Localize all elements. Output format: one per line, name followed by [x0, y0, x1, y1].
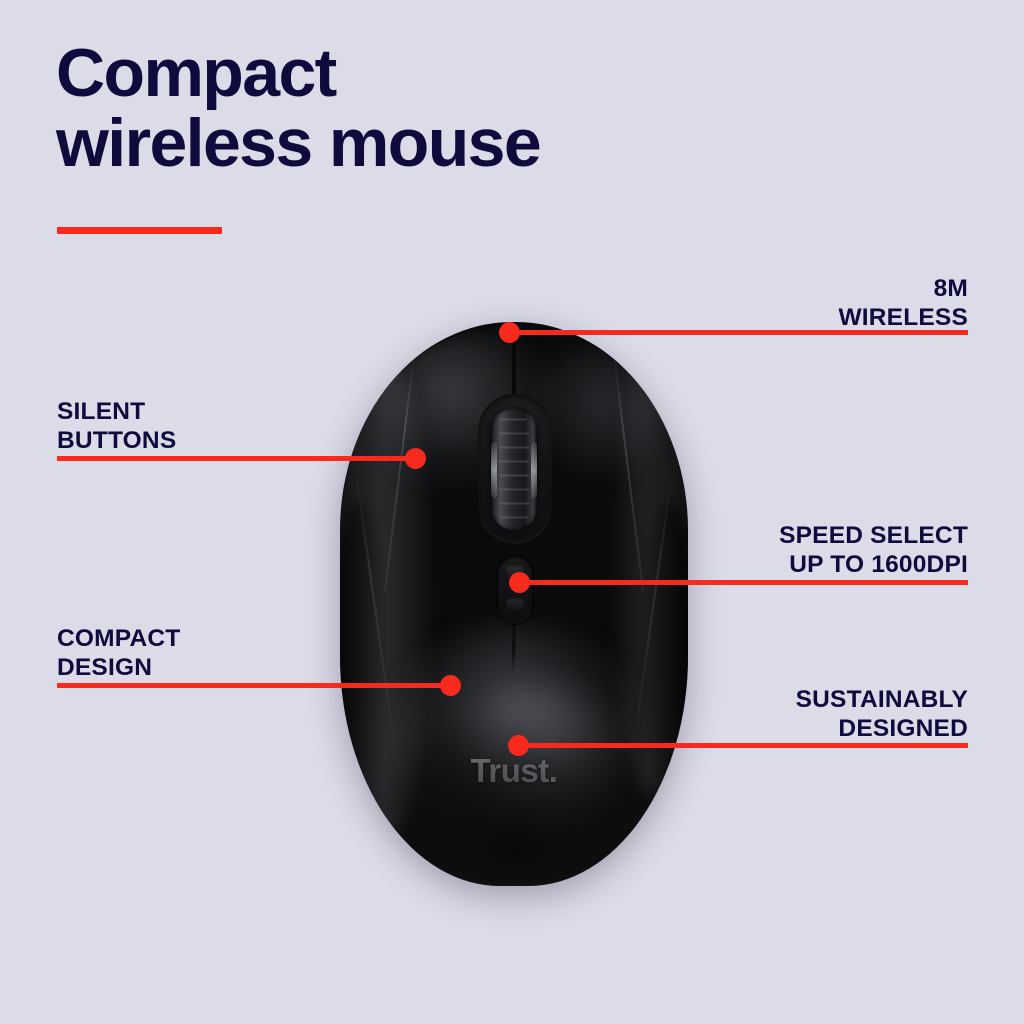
product-infographic: Compact wireless mouse	[0, 0, 1024, 1024]
callout-wireless-range-line-1: 8M	[838, 275, 968, 304]
page-title-line-1: Compact	[56, 38, 776, 108]
callout-leader-line-sustainably-designed	[521, 743, 968, 748]
callout-compact-design-line-2: DESIGN	[57, 654, 180, 683]
callout-dot-silent-buttons	[405, 448, 426, 469]
title-underline-rule	[57, 227, 222, 234]
callout-dot-compact-design	[440, 675, 461, 696]
scroll-wheel	[490, 408, 538, 530]
scroll-wheel-ring-right	[531, 442, 537, 498]
callout-speed-select-line-1: SPEED SELECT	[779, 522, 968, 551]
callout-dot-wireless-range	[499, 322, 520, 343]
callout-label-wireless-range: 8M WIRELESS	[838, 275, 968, 332]
callout-sustainably-designed-line-2: DESIGNED	[796, 715, 968, 744]
callout-leader-line-speed-select	[522, 580, 968, 585]
callout-label-sustainably-designed: SUSTAINABLY DESIGNED	[796, 686, 968, 743]
callout-dot-speed-select	[509, 572, 530, 593]
callout-compact-design-line-1: COMPACT	[57, 625, 180, 654]
callout-label-compact-design: COMPACT DESIGN	[57, 625, 180, 682]
callout-leader-line-compact-design	[57, 683, 450, 688]
callout-speed-select-line-2: UP TO 1600DPI	[779, 551, 968, 580]
dpi-button-groove-bottom	[506, 598, 524, 611]
mouse-split-line-tail	[512, 640, 515, 674]
callout-dot-sustainably-designed	[508, 735, 529, 756]
scroll-wheel-texture	[499, 412, 529, 526]
callout-leader-line-wireless-range	[512, 330, 968, 335]
page-title-line-2: wireless mouse	[56, 108, 776, 178]
product-image-wireless-mouse: Trust.	[340, 322, 688, 886]
page-title: Compact wireless mouse	[56, 38, 776, 178]
callout-label-speed-select: SPEED SELECT UP TO 1600DPI	[779, 522, 968, 579]
scroll-wheel-ring-left	[491, 442, 497, 498]
callout-leader-line-silent-buttons	[57, 456, 415, 461]
callout-silent-buttons-line-1: SILENT	[57, 398, 176, 427]
callout-silent-buttons-line-2: BUTTONS	[57, 427, 176, 456]
callout-label-silent-buttons: SILENT BUTTONS	[57, 398, 176, 455]
callout-wireless-range-line-2: WIRELESS	[838, 304, 968, 333]
callout-sustainably-designed-line-1: SUSTAINABLY	[796, 686, 968, 715]
mouse-shell: Trust.	[340, 322, 688, 886]
